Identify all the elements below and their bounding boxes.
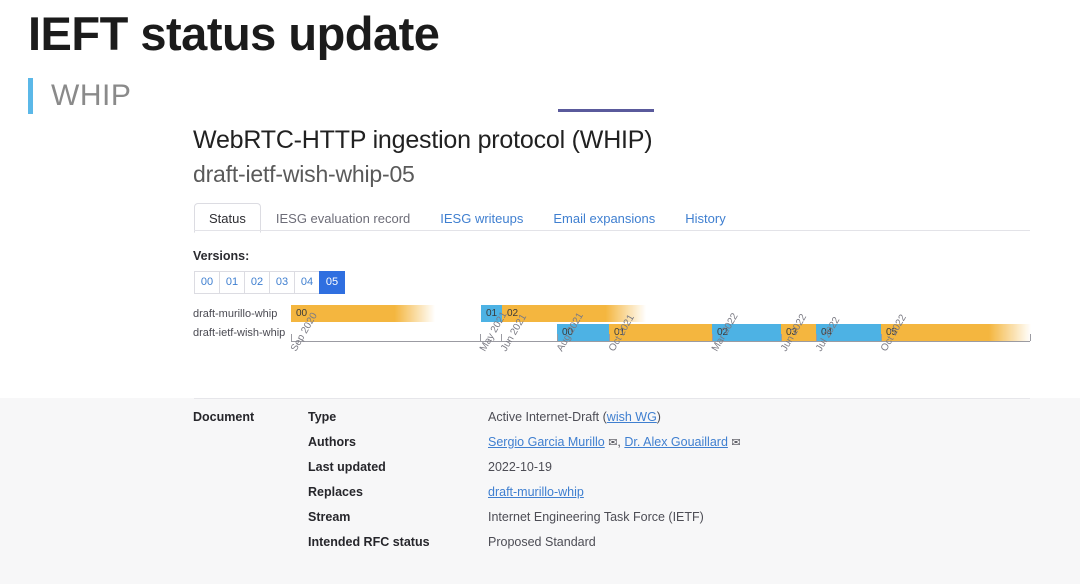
axis-tick <box>712 334 713 341</box>
axis-tick <box>781 334 782 341</box>
table-row: Document Type Active Internet-Draft (wis… <box>193 410 1033 435</box>
axis-tick <box>291 334 292 341</box>
author-link-2[interactable]: Dr. Alex Gouaillard <box>624 435 728 449</box>
timeline-row-label-murillo: draft-murillo-whip <box>193 308 277 320</box>
table-row: Replaces draft-murillo-whip <box>193 485 1033 510</box>
axis-tick <box>816 334 817 341</box>
timeline-axis <box>291 341 1030 342</box>
type-text-suffix: ) <box>657 410 661 424</box>
axis-tick <box>480 334 481 341</box>
timeline-row-label-ietf: draft-ietf-wish-whip <box>193 327 285 339</box>
datatracker-panel: WebRTC-HTTP ingestion protocol (WHIP) dr… <box>0 0 1080 584</box>
metadata-table: Document Type Active Internet-Draft (wis… <box>193 410 1033 560</box>
metadata-key-intended-rfc: Intended RFC status <box>308 535 488 549</box>
axis-tick <box>609 334 610 341</box>
metadata-key-stream: Stream <box>308 510 488 524</box>
axis-end-tick <box>1030 334 1031 341</box>
metadata-divider <box>194 398 1030 399</box>
table-row: Stream Internet Engineering Task Force (… <box>193 510 1033 535</box>
type-text: Active Internet-Draft ( <box>488 410 607 424</box>
replaces-link[interactable]: draft-murillo-whip <box>488 485 584 499</box>
metadata-section-label: Document <box>193 410 308 424</box>
metadata-key-type: Type <box>308 410 488 424</box>
metadata-value-authors: Sergio Garcia Murillo ✉, Dr. Alex Gouail… <box>488 435 741 449</box>
metadata-key-last-updated: Last updated <box>308 460 488 474</box>
author-link-1[interactable]: Sergio Garcia Murillo <box>488 435 605 449</box>
metadata-value-stream: Internet Engineering Task Force (IETF) <box>488 510 704 524</box>
axis-tick <box>881 334 882 341</box>
table-row: Intended RFC status Proposed Standard <box>193 535 1033 560</box>
axis-tick <box>501 334 502 341</box>
table-row: Last updated 2022-10-19 <box>193 460 1033 485</box>
axis-tick <box>557 334 558 341</box>
metadata-key-replaces: Replaces <box>308 485 488 499</box>
envelope-icon[interactable]: ✉ <box>608 437 617 449</box>
wish-wg-link[interactable]: wish WG <box>607 410 657 424</box>
metadata-value-intended-rfc: Proposed Standard <box>488 535 596 549</box>
metadata-value-replaces: draft-murillo-whip <box>488 485 584 499</box>
envelope-icon[interactable]: ✉ <box>731 437 740 449</box>
metadata-value-last-updated: 2022-10-19 <box>488 460 552 474</box>
metadata-value-type: Active Internet-Draft (wish WG) <box>488 410 661 424</box>
slide-root: IEFT status update WHIP WebRTC-HTTP inge… <box>0 0 1080 584</box>
table-row: Authors Sergio Garcia Murillo ✉, Dr. Ale… <box>193 435 1033 460</box>
metadata-key-authors: Authors <box>308 435 488 449</box>
